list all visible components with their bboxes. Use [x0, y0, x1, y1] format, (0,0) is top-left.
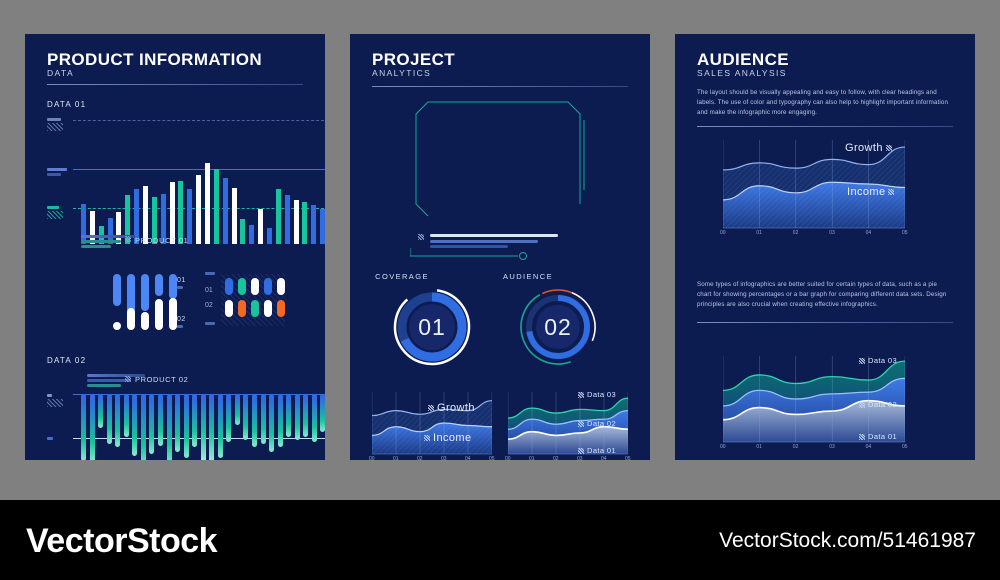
bar [196, 175, 201, 244]
axis2-label-0 [47, 394, 52, 397]
data01-swatch-right [859, 434, 865, 440]
capsule-cell [264, 300, 272, 317]
data03-swatch-right [859, 358, 865, 364]
page-subtitle-right: SALES ANALYSIS [697, 68, 787, 78]
right-top-tag-growth: Growth [845, 142, 892, 154]
divider [47, 84, 303, 85]
capsule-cell [225, 278, 233, 295]
capsule-bar [155, 274, 163, 296]
right-bottom-tag-01: Data 01 [859, 432, 897, 441]
bar [115, 394, 120, 447]
capsule-b-header-tick [205, 272, 215, 275]
capsule-bar [113, 322, 121, 330]
bar [261, 394, 266, 444]
mid-area-right-tag-01: Data 01 [578, 446, 616, 455]
capsule-cell [225, 300, 233, 317]
page-title-mid: PROJECT [372, 50, 455, 70]
capsule-bar [169, 274, 177, 299]
bar [107, 394, 112, 444]
page-subtitle: DATA [47, 68, 74, 78]
coverage-value: 01 [392, 287, 472, 367]
paragraph-2: Some types of infographics are better su… [697, 280, 953, 311]
right-bottom-tag-03: Data 03 [859, 356, 897, 365]
bar [132, 394, 137, 456]
data03-swatch-icon [578, 392, 584, 398]
legend-label-product-02: PRODUCT 02 [135, 375, 188, 384]
data01-swatch-icon [578, 448, 584, 454]
audience-label: AUDIENCE [468, 272, 588, 281]
mid-area-left-tag-growth: Growth [428, 402, 475, 414]
axis-tick-label: 04 [866, 230, 872, 236]
page-title-right: AUDIENCE [697, 50, 789, 70]
divider-mid [372, 86, 628, 87]
bar [158, 394, 163, 446]
axis-tick-label: 00 [720, 444, 726, 450]
donut-coverage: 01 [392, 287, 472, 367]
capsule-bar [127, 308, 135, 330]
bar [98, 394, 103, 428]
bar [149, 394, 154, 454]
legend-swatch-product-01 [125, 236, 131, 242]
mid-area-left-tag-income: Income [424, 432, 471, 444]
donut-audience: 02 [518, 287, 598, 367]
bar [295, 394, 300, 440]
right-top-tag-income: Income [847, 186, 894, 198]
axis-tick-label: 05 [489, 456, 495, 460]
axis-tick-label: 02 [553, 456, 559, 460]
axis-tick-label: 04 [866, 444, 872, 450]
right-bottom-tag-02: Data 02 [859, 400, 897, 409]
chart-data-02-bars [81, 394, 325, 460]
legend2-bar-3 [87, 384, 121, 387]
legend-bar-2 [81, 240, 121, 243]
bar [205, 163, 210, 244]
hero-track[interactable] [410, 246, 610, 262]
income-swatch-icon-right [888, 189, 894, 195]
axis-label-mid [47, 168, 67, 171]
bar [175, 394, 180, 452]
axis-tick-label: 01 [756, 230, 762, 236]
axis-tick-label: 00 [505, 456, 511, 460]
capsule-cell [277, 278, 285, 295]
bar [223, 178, 228, 244]
bar [226, 394, 231, 442]
capsule-a-label-01: 01 [177, 277, 186, 284]
hero-slider-2[interactable] [430, 240, 538, 243]
axis-tick-label: 01 [529, 456, 535, 460]
bar [320, 209, 325, 244]
bar [311, 205, 316, 244]
axis-tick-label: 05 [902, 444, 908, 450]
bar [267, 228, 272, 244]
bar [294, 200, 299, 244]
axis2-label-50 [47, 437, 53, 440]
axis-label-low [47, 206, 59, 209]
capsule-cell [251, 278, 259, 295]
bar [167, 394, 172, 460]
bar [178, 181, 183, 244]
bar [285, 195, 290, 244]
hero-frame [400, 94, 600, 224]
capsule-cell [264, 278, 272, 295]
legend-label-product-01: PRODUCT 01 [135, 236, 188, 245]
axis-tick-label: 01 [756, 444, 762, 450]
vectorstock-logo: VectorStock [26, 522, 217, 561]
audience-value: 02 [518, 287, 598, 367]
growth-swatch-icon [428, 405, 434, 411]
axis-tick-label: 03 [441, 456, 447, 460]
axis-tick-label: 00 [720, 230, 726, 236]
capsule-cell [238, 300, 246, 317]
bar [209, 394, 214, 460]
chart-capsule-b [221, 274, 285, 326]
bar [201, 394, 206, 460]
bar [269, 394, 274, 452]
capsule-bar [141, 312, 149, 330]
vectorstock-url: VectorStock.com/51461987 [719, 529, 976, 553]
mid-area-right-tag-02: Data 02 [578, 419, 616, 428]
mid-area-right-tag-03: Data 03 [578, 390, 616, 399]
hero-legend-swatch [418, 234, 424, 240]
bar [141, 394, 146, 460]
axis-tick-label: 03 [577, 456, 583, 460]
bar [249, 225, 254, 244]
bar [320, 394, 325, 432]
chart-data-01-bars [81, 156, 325, 244]
coverage-label: COVERAGE [350, 272, 462, 281]
capsule-bar [169, 298, 177, 330]
bar [312, 394, 317, 442]
footer-bar: VectorStock VectorStock.com/51461987 [0, 500, 1000, 580]
capsule-cell [251, 300, 259, 317]
capsule-b-footer-tick [205, 322, 215, 325]
axis2-swatch-0 [47, 399, 63, 407]
bar [240, 219, 245, 244]
growth-swatch-icon-right [886, 145, 892, 151]
bar [192, 394, 197, 447]
capsule-a-label-02: 02 [177, 316, 186, 323]
section-label-data-01: DATA 01 [47, 100, 86, 109]
bar [303, 394, 308, 437]
bar [90, 211, 95, 244]
bar [286, 394, 291, 437]
axis-label-mid2 [47, 173, 61, 176]
bar [243, 394, 248, 440]
divider-right-1 [697, 126, 953, 127]
bar [232, 188, 237, 244]
income-swatch-icon [424, 435, 430, 441]
axis-tick-label: 00 [369, 456, 375, 460]
capsule-bar [113, 274, 121, 306]
divider-right-2 [697, 322, 953, 323]
axis-label-top [47, 118, 61, 121]
bar [124, 394, 129, 437]
bar [170, 182, 175, 244]
bar [302, 202, 307, 244]
bar [252, 394, 257, 447]
gridline-top [73, 120, 325, 121]
axis-tick-label: 05 [625, 456, 631, 460]
bar [278, 394, 283, 447]
axis-tick-label: 01 [393, 456, 399, 460]
bar [81, 394, 86, 460]
axis-tick-label: 05 [902, 230, 908, 236]
paragraph-1: The layout should be visually appealing … [697, 88, 953, 119]
bar [276, 189, 281, 244]
capsule-a-tick-01 [177, 286, 183, 289]
axis-tick-label: 03 [829, 230, 835, 236]
panel-audience-sales: AUDIENCE SALES ANALYSIS The layout shoul… [675, 34, 975, 460]
axis-tick-label: 03 [829, 444, 835, 450]
capsule-a-tick-02 [177, 325, 183, 328]
panel-project-analytics: PROJECT ANALYTICS COVERAGE 01 [350, 34, 650, 460]
hero-slider-1 [430, 234, 558, 237]
bar [235, 394, 240, 425]
axis-tick-label: 04 [465, 456, 471, 460]
capsule-b-label-02: 02 [205, 302, 213, 309]
axis-tick-label: 02 [793, 444, 799, 450]
axis-tick-label: 02 [793, 230, 799, 236]
capsule-cell [277, 300, 285, 317]
bar [258, 209, 263, 244]
capsule-cell [238, 278, 246, 295]
axis-swatch-low [47, 211, 63, 219]
section-label-data-02: DATA 02 [47, 356, 86, 365]
capsule-bar [155, 299, 163, 330]
bar [90, 394, 95, 460]
panel-product-information: PRODUCT INFORMATION DATA DATA 01 PRODUCT… [25, 34, 325, 460]
data02-swatch-right [859, 402, 865, 408]
bar [218, 394, 223, 458]
legend-bar-3 [81, 245, 111, 248]
data02-swatch-icon [578, 421, 584, 427]
capsule-bar [141, 274, 149, 311]
legend-swatch-product-02 [125, 376, 131, 382]
page-title: PRODUCT INFORMATION [47, 50, 262, 70]
bar [214, 169, 219, 244]
axis-tick-label: 04 [601, 456, 607, 460]
capsule-b-label-01: 01 [205, 287, 213, 294]
bar [184, 394, 189, 458]
page-subtitle-mid: ANALYTICS [372, 68, 431, 78]
chart-capsule-a [113, 274, 183, 330]
axis-swatch-top [47, 123, 63, 131]
infographic-stage: PRODUCT INFORMATION DATA DATA 01 PRODUCT… [0, 0, 1000, 580]
axis-tick-label: 02 [417, 456, 423, 460]
